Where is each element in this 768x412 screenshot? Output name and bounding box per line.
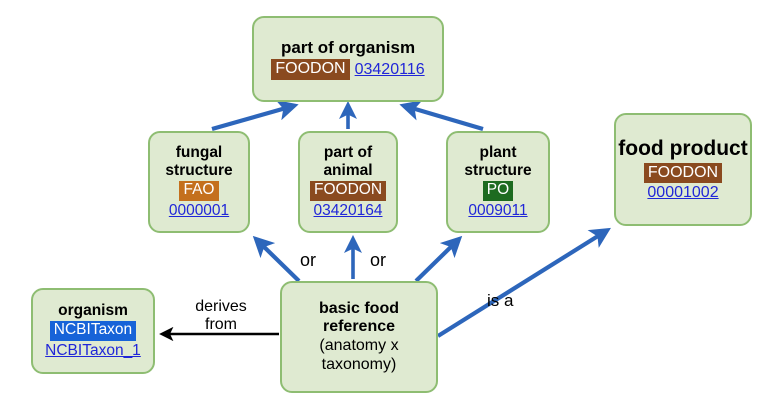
- ontology-badge-fao: FAO: [179, 181, 218, 201]
- edge-label-or-left: or: [300, 250, 316, 270]
- edge-plant-to-part-of-organism: [405, 106, 483, 129]
- edge-label-is-a: is a: [487, 291, 513, 310]
- node-identifier-row: PO 0009011: [468, 181, 527, 220]
- node-title: basic food reference: [282, 300, 436, 336]
- node-title: fungal structure: [150, 144, 248, 179]
- node-identifier-row: FOODON 03420164: [310, 181, 386, 220]
- node-title: part of animal: [300, 144, 396, 179]
- ontology-id-link[interactable]: NCBITaxon_1: [45, 342, 141, 360]
- ontology-id-link[interactable]: 0000001: [169, 202, 229, 220]
- node-basic-food-reference[interactable]: basic food reference (anatomy x taxonomy…: [280, 281, 438, 393]
- edge-basicfood-to-plant: [416, 240, 458, 281]
- ontology-badge-foodon: FOODON: [271, 59, 349, 80]
- ontology-id-link[interactable]: 00001002: [647, 184, 718, 202]
- node-identifier-row: NCBITaxon NCBITaxon_1: [45, 321, 141, 360]
- edge-label-or-right: or: [370, 250, 386, 270]
- node-title: plant structure: [448, 144, 548, 179]
- node-identifier-row: FOODON 03420116: [271, 59, 424, 80]
- node-title: part of organism: [281, 38, 415, 57]
- node-organism[interactable]: organism NCBITaxon NCBITaxon_1: [31, 288, 155, 374]
- ontology-id-link[interactable]: 03420116: [355, 61, 425, 79]
- node-food-product[interactable]: food product FOODON 00001002: [614, 113, 752, 226]
- node-subtitle: (anatomy x taxonomy): [282, 336, 436, 374]
- ontology-badge-po: PO: [483, 181, 513, 201]
- node-title: food product: [618, 137, 747, 161]
- node-title: organism: [58, 302, 128, 319]
- node-identifier-row: FOODON 00001002: [644, 163, 722, 203]
- ontology-badge-foodon: FOODON: [310, 181, 386, 201]
- edge-fungal-to-part-of-organism: [212, 106, 293, 129]
- ontology-badge-ncbitaxon: NCBITaxon: [50, 321, 136, 341]
- node-fungal-structure[interactable]: fungal structure FAO 0000001: [148, 131, 250, 233]
- node-part-of-organism[interactable]: part of organism FOODON 03420116: [252, 16, 444, 102]
- edge-label-derives-from: derives from: [180, 298, 262, 334]
- ontology-badge-foodon: FOODON: [644, 163, 722, 184]
- ontology-id-link[interactable]: 0009011: [468, 202, 527, 220]
- diagram-canvas: part of organism FOODON 03420116 fungal …: [0, 0, 768, 412]
- ontology-id-link[interactable]: 03420164: [314, 202, 383, 220]
- edge-basicfood-to-fungal: [257, 240, 299, 281]
- node-identifier-row: FAO 0000001: [169, 181, 229, 220]
- node-plant-structure[interactable]: plant structure PO 0009011: [446, 131, 550, 233]
- node-part-of-animal[interactable]: part of animal FOODON 03420164: [298, 131, 398, 233]
- edge-basicfood-to-food-product: [438, 231, 606, 336]
